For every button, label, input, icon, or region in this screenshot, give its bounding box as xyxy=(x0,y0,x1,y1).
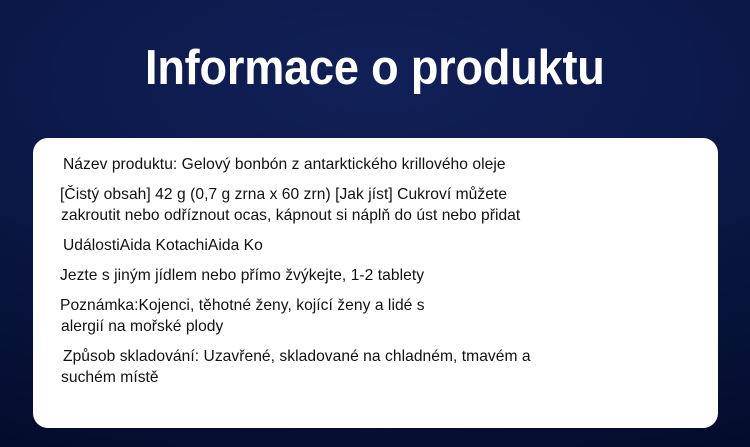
info-line-dosage: Jezte s jiným jídlem nebo přímo žvýkejte… xyxy=(59,265,696,286)
info-block-events: UdálostiAida KotachiAida Ko xyxy=(59,235,696,256)
info-line-storage: Způsob skladování: Uzavřené, skladované … xyxy=(59,346,696,367)
product-info-card: Název produktu: Gelový bonbón z antarkti… xyxy=(33,138,718,428)
product-info-list: Název produktu: Gelový bonbón z antarkti… xyxy=(59,154,696,388)
page-title: Informace o produktu xyxy=(145,44,605,93)
info-line-events: UdálostiAida KotachiAida Ko xyxy=(59,235,696,256)
info-line-net-content: [Čistý obsah] 42 g (0,7 g zrna x 60 zrn)… xyxy=(59,184,696,205)
info-line-warning: Poznámka:Kojenci, těhotné ženy, kojící ž… xyxy=(59,295,696,316)
info-line-warning-continuation: alergií na mořské plody xyxy=(59,316,696,337)
info-block-warning: Poznámka:Kojenci, těhotné ženy, kojící ž… xyxy=(59,295,696,337)
info-line-net-content-continuation: zakroutit nebo odříznout ocas, kápnout s… xyxy=(59,205,696,226)
product-info-screen: Informace o produktu Název produktu: Gel… xyxy=(0,0,750,447)
info-block-storage: Způsob skladování: Uzavřené, skladované … xyxy=(59,346,696,388)
info-block-product-name: Název produktu: Gelový bonbón z antarkti… xyxy=(59,154,696,175)
info-line-product-name: Název produktu: Gelový bonbón z antarkti… xyxy=(59,154,696,175)
info-block-net-content: [Čistý obsah] 42 g (0,7 g zrna x 60 zrn)… xyxy=(59,184,696,226)
title-band: Informace o produktu xyxy=(0,0,750,132)
info-block-dosage: Jezte s jiným jídlem nebo přímo žvýkejte… xyxy=(59,265,696,286)
info-line-storage-continuation: suchém místě xyxy=(59,367,696,388)
